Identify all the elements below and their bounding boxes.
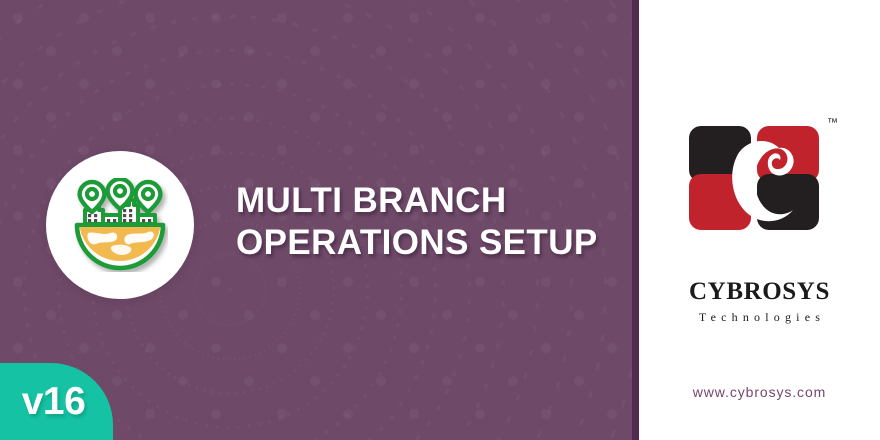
right-white-panel: ™ CYBROSYS Technologies www.cybrosys.com [639, 0, 880, 440]
multi-branch-globe-icon [72, 178, 168, 272]
trademark-symbol: ™ [827, 117, 838, 129]
version-label: v16 [0, 363, 113, 440]
cybrosys-logo-mark: ™ [675, 112, 845, 238]
title-line-2: OPERATIONS SETUP [236, 222, 616, 264]
icon-badge-circle [46, 151, 194, 299]
brand-subtitle: Technologies [639, 310, 880, 325]
website-url: www.cybrosys.com [639, 384, 880, 400]
cybrosys-logo: ™ [675, 112, 845, 238]
version-badge: v16 [0, 363, 113, 440]
title-line-1: MULTI BRANCH [236, 180, 616, 222]
banner: MULTI BRANCH OPERATIONS SETUP v16 ™ CYBR… [0, 0, 880, 440]
page-title: MULTI BRANCH OPERATIONS SETUP [236, 180, 616, 264]
brand-name: CYBROSYS [639, 278, 880, 306]
panel-divider-stripe [632, 0, 639, 440]
